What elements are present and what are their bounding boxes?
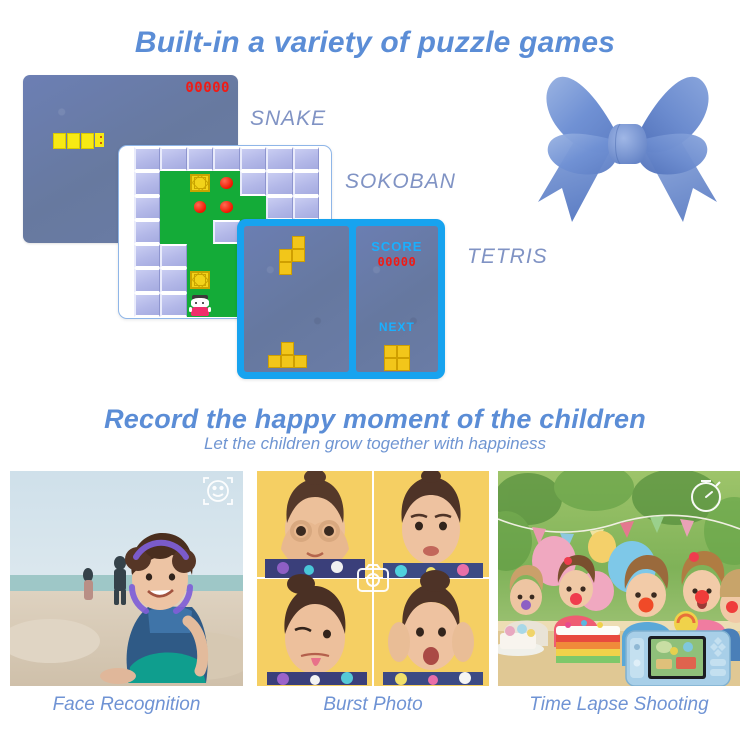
sokoban-crate [190,271,210,289]
feature-photo-row [0,471,750,686]
snake-score-value: 00000 [185,80,230,96]
sokoban-target [220,177,233,189]
game-screen-tetris: SCORE 00000 NEXT [237,219,445,379]
tetris-next-label: NEXT [356,320,438,334]
sokoban-crate [190,174,210,192]
feature-caption-face-recognition: Face Recognition [10,694,243,716]
game-label-sokoban: SOKOBAN [345,170,456,194]
page-subtitle: Let the children grow together with happ… [0,434,750,454]
page-title-games: Built-in a variety of puzzle games [0,26,750,60]
feature-caption-timelapse: Time Lapse Shooting [498,694,740,716]
sokoban-target [194,201,207,213]
ribbon-bow-icon [520,62,735,242]
snake-sprite [53,133,104,149]
tetris-playfield [244,226,349,372]
feature-photo-face-recognition [10,471,243,686]
tetris-sidebar: SCORE 00000 NEXT [356,226,438,372]
promo-page: Built-in a variety of puzzle games 00000… [0,0,750,750]
sokoban-target [220,201,233,213]
feature-photo-burst [257,471,489,686]
feature-photo-timelapse [498,471,740,686]
sokoban-player [189,295,210,316]
page-title-record: Record the happy moment of the children [0,404,750,435]
game-label-snake: SNAKE [250,107,326,131]
tetris-score-label: SCORE [356,239,438,254]
feature-caption-burst: Burst Photo [257,694,489,716]
tetris-score-value: 00000 [356,255,438,269]
game-label-tetris: TETRIS [467,245,548,269]
